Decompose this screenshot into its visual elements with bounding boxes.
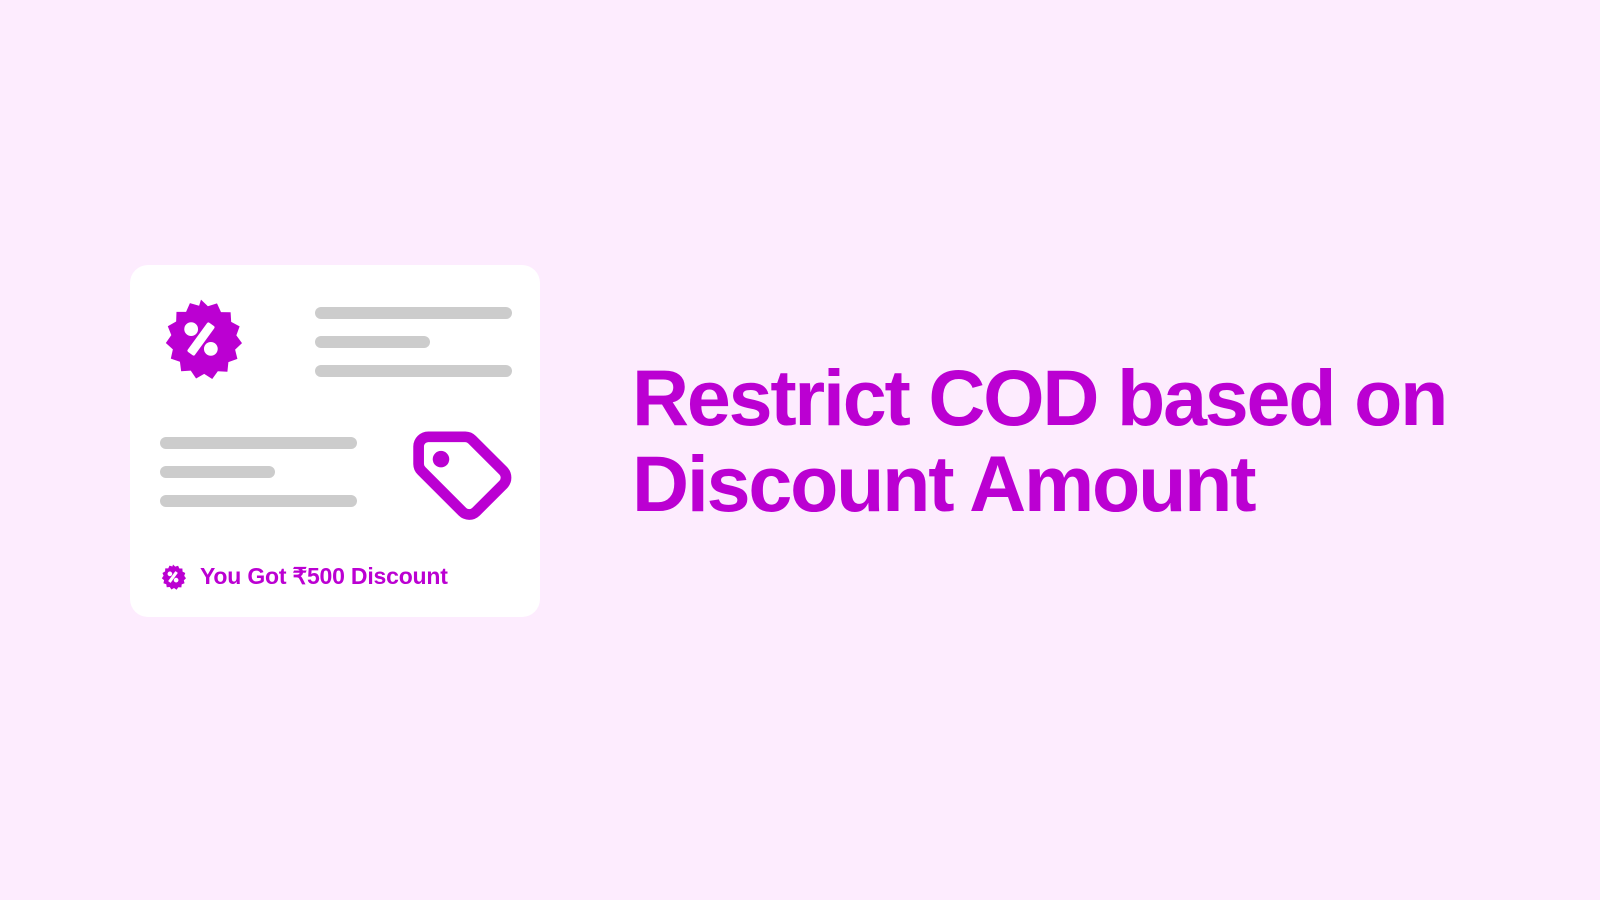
skeleton-line — [160, 495, 357, 507]
discount-footer-label: You Got ₹500 Discount — [200, 563, 448, 590]
skeleton-line — [315, 336, 430, 348]
discount-footer: You Got ₹500 Discount — [160, 563, 448, 590]
skeleton-line — [315, 307, 512, 319]
price-tag-icon — [405, 427, 512, 539]
skeleton-lines-bottom — [160, 437, 357, 507]
page-canvas: You Got ₹500 Discount Restrict COD based… — [0, 0, 1600, 900]
card-bottom-row — [160, 427, 512, 542]
percent-badge-icon — [160, 564, 186, 590]
skeleton-line — [315, 365, 512, 377]
card-top-row — [160, 298, 512, 398]
skeleton-line — [160, 466, 275, 478]
skeleton-lines-top — [315, 307, 512, 377]
percent-badge-icon — [160, 298, 242, 380]
page-title: Restrict COD based on Discount Amount — [632, 355, 1452, 527]
promo-illustration-card: You Got ₹500 Discount — [130, 265, 540, 617]
skeleton-line — [160, 437, 357, 449]
